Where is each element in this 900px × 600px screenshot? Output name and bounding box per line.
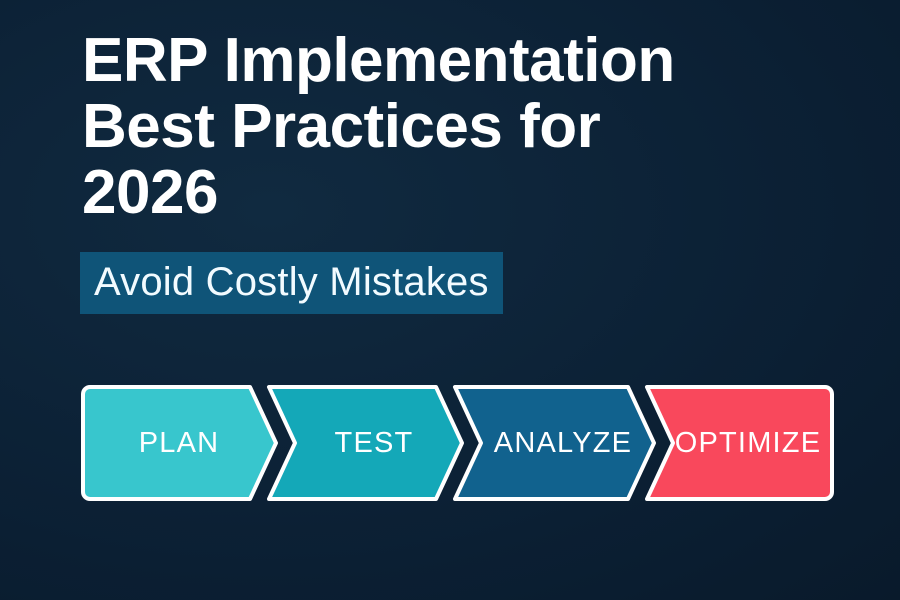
process-step-plan[interactable]: PLAN: [80, 384, 278, 502]
title-line-1: ERP Implementation: [82, 28, 782, 94]
process-flow: PLAN TEST ANALYZE OPTIMIZE: [80, 384, 834, 502]
poster-canvas: ERP Implementation Best Practices for 20…: [0, 0, 900, 600]
title-line-3: 2026: [82, 160, 782, 226]
chevron-shape: [266, 384, 464, 502]
chevron-shape-end: [644, 384, 834, 502]
page-title: ERP Implementation Best Practices for 20…: [82, 28, 782, 226]
process-step-optimize[interactable]: OPTIMIZE: [644, 384, 834, 502]
subtitle-text: Avoid Costly Mistakes: [94, 260, 489, 304]
subtitle-highlight-band: Avoid Costly Mistakes: [80, 252, 503, 314]
chevron-shape: [452, 384, 656, 502]
subtitle: Avoid Costly Mistakes: [80, 252, 503, 314]
process-step-test[interactable]: TEST: [266, 384, 464, 502]
chevron-shape-start: [80, 384, 278, 502]
process-step-analyze[interactable]: ANALYZE: [452, 384, 656, 502]
title-line-2: Best Practices for: [82, 94, 782, 160]
